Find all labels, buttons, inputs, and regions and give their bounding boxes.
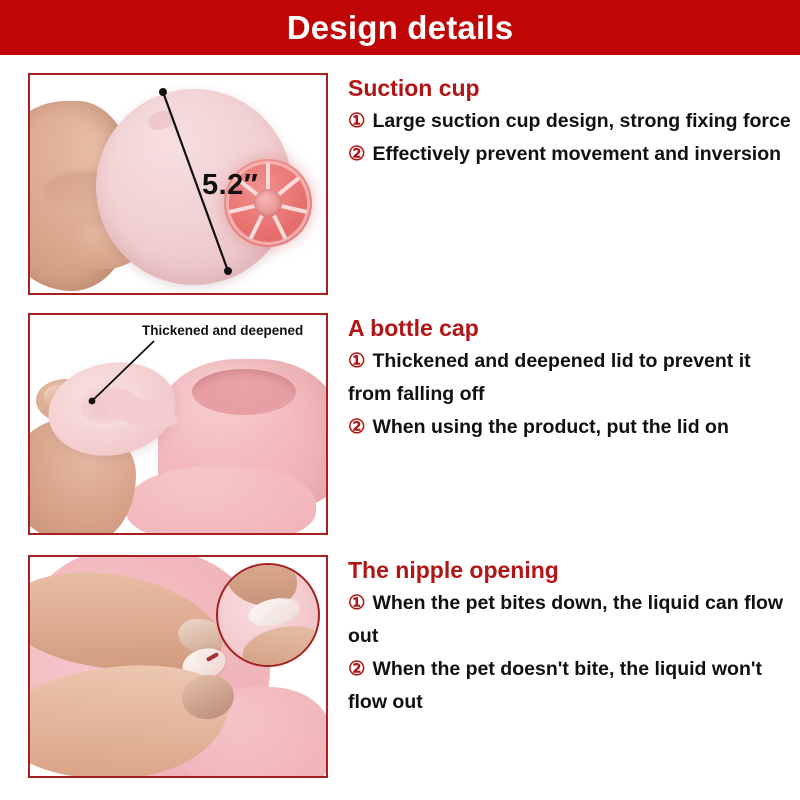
text-column-nipple-opening: The nipple opening ①When the pet bites d… xyxy=(348,555,794,778)
bullet-item: ①Thickened and deepened lid to prevent i… xyxy=(348,345,794,411)
section-heading-nipple-opening: The nipple opening xyxy=(348,555,794,585)
bullet-marker: ① xyxy=(348,110,365,132)
photo-bottle-cap-and-mouth: Thickened and deepened xyxy=(30,315,326,533)
magnified-finger-lower xyxy=(239,620,320,667)
photo-nipple-opening-pinch xyxy=(30,557,326,776)
photo-frame-nipple-opening xyxy=(28,555,328,778)
text-column-suction-cup: Suction cup ①Large suction cup design, s… xyxy=(348,73,794,295)
section-bottle-cap: Thickened and deepened A bottle cap ①Thi… xyxy=(0,313,800,535)
bullet-marker: ① xyxy=(348,350,365,372)
section-heading-suction-cup: Suction cup xyxy=(348,73,794,103)
bullet-marker: ② xyxy=(348,658,365,680)
bullet-text: When using the product, put the lid on xyxy=(372,416,728,438)
magnifier-inset xyxy=(216,563,320,667)
bullet-marker: ② xyxy=(348,416,365,438)
bullet-text: When the pet bites down, the liquid can … xyxy=(348,592,783,647)
cup-side-nub xyxy=(146,107,176,132)
photo-frame-suction-cup: 5.2″ xyxy=(28,73,328,295)
page-title: Design details xyxy=(287,11,514,44)
section-suction-cup: 5.2″ Suction cup ①Large suction cup desi… xyxy=(0,73,800,295)
bullet-marker: ① xyxy=(348,592,365,614)
bullet-item: ②When the pet doesn't bite, the liquid w… xyxy=(348,653,794,719)
page-header: Design details xyxy=(0,0,800,55)
bullet-text: When the pet doesn't bite, the liquid wo… xyxy=(348,658,762,713)
section-heading-bottle-cap: A bottle cap xyxy=(348,313,794,343)
bullet-item: ②Effectively prevent movement and invers… xyxy=(348,138,794,171)
photo-callout-label: Thickened and deepened xyxy=(142,323,303,338)
suction-cup-disc xyxy=(96,89,292,285)
bullet-item: ①Large suction cup design, strong fixing… xyxy=(348,105,794,138)
dimension-label: 5.2″ xyxy=(202,169,258,202)
bottle-mouth-opening xyxy=(192,369,296,415)
bullet-item: ①When the pet bites down, the liquid can… xyxy=(348,587,794,653)
photo-suction-cup-in-hand: 5.2″ xyxy=(30,75,326,293)
bullet-marker: ② xyxy=(348,143,365,165)
bottle-base xyxy=(126,465,316,535)
bullet-text: Large suction cup design, strong fixing … xyxy=(372,110,790,132)
text-column-bottle-cap: A bottle cap ①Thickened and deepened lid… xyxy=(348,313,794,535)
bullet-item: ②When using the product, put the lid on xyxy=(348,411,794,444)
section-nipple-opening: The nipple opening ①When the pet bites d… xyxy=(0,555,800,778)
bullet-text: Thickened and deepened lid to prevent it… xyxy=(348,350,751,405)
photo-frame-bottle-cap: Thickened and deepened xyxy=(28,313,328,535)
bullet-text: Effectively prevent movement and inversi… xyxy=(372,143,781,165)
